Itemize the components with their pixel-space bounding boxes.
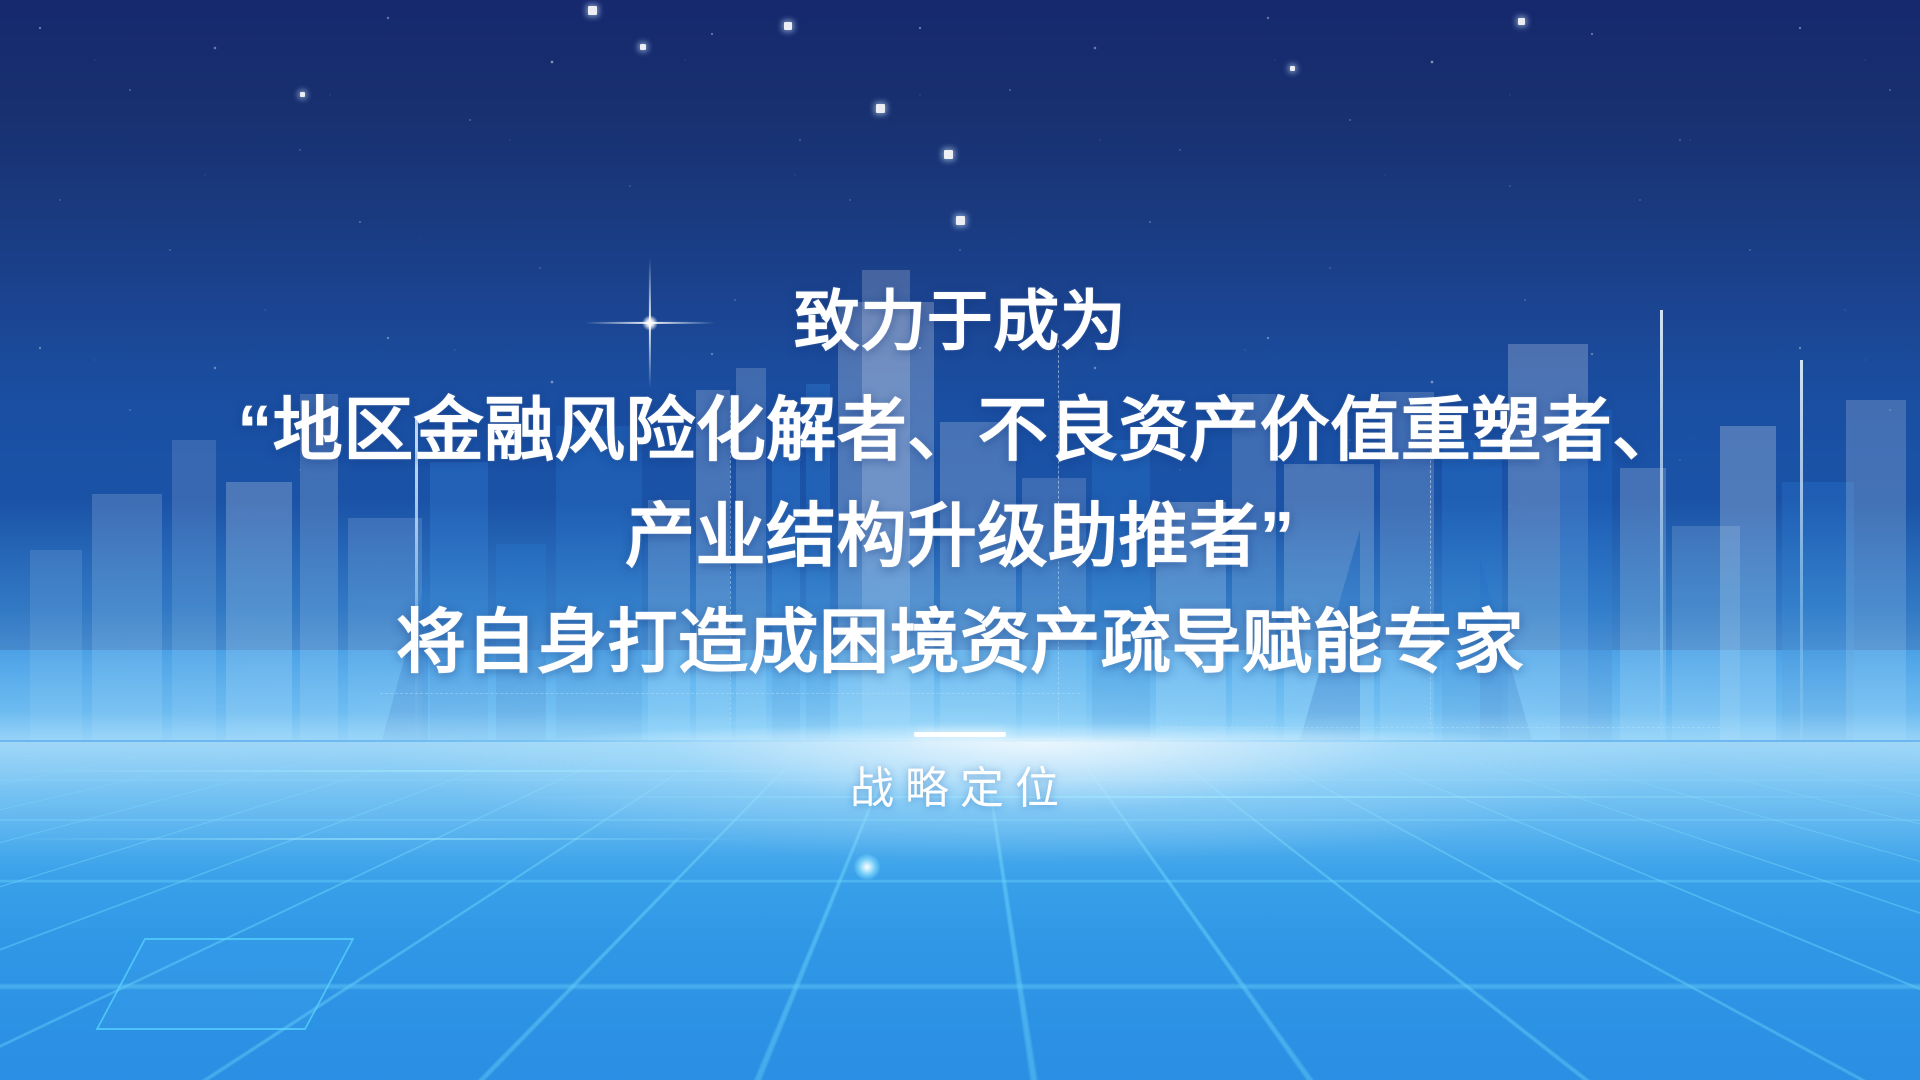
headline-line-2: “地区金融风险化解者、不良资产价值重塑者、: [0, 374, 1920, 475]
subtitle-label: 战略定位: [0, 752, 1920, 816]
headline-line-1: 致力于成为: [0, 268, 1920, 364]
headline-line-3: 产业结构升级助推者”: [0, 480, 1920, 581]
poster-canvas: 致力于成为 “地区金融风险化解者、不良资产价值重塑者、 产业结构升级助推者” 将…: [0, 0, 1920, 1080]
headline-line-4: 将自身打造成困境资产疏导赋能专家: [0, 586, 1920, 687]
title-divider: [914, 732, 1006, 737]
poster-text: 致力于成为 “地区金融风险化解者、不良资产价值重塑者、 产业结构升级助推者” 将…: [0, 0, 1920, 1080]
